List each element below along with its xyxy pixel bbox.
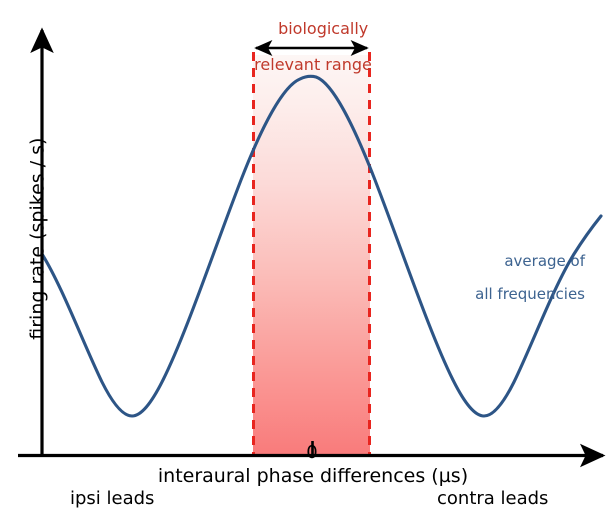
range-annotation-label: biologically relevant range: [233, 2, 393, 109]
x-axis-right-note: contra leads: [437, 489, 548, 509]
curve-annotation-line2: all frequencies: [455, 286, 585, 303]
curve-annotation-label: average of all frequencies: [455, 236, 585, 337]
x-axis-zero-tick-label: 0: [292, 443, 332, 463]
range-annotation-line2: relevant range: [233, 56, 393, 74]
range-annotation-line1: biologically: [278, 19, 368, 38]
x-axis-left-note: ipsi leads: [70, 489, 154, 509]
y-axis-title: firing rate (spikes / s): [27, 109, 48, 369]
figure-root: biologically relevant range average of a…: [0, 0, 615, 512]
x-axis-title: interaural phase differences (µs): [128, 466, 498, 487]
curve-annotation-line1: average of: [504, 252, 585, 270]
